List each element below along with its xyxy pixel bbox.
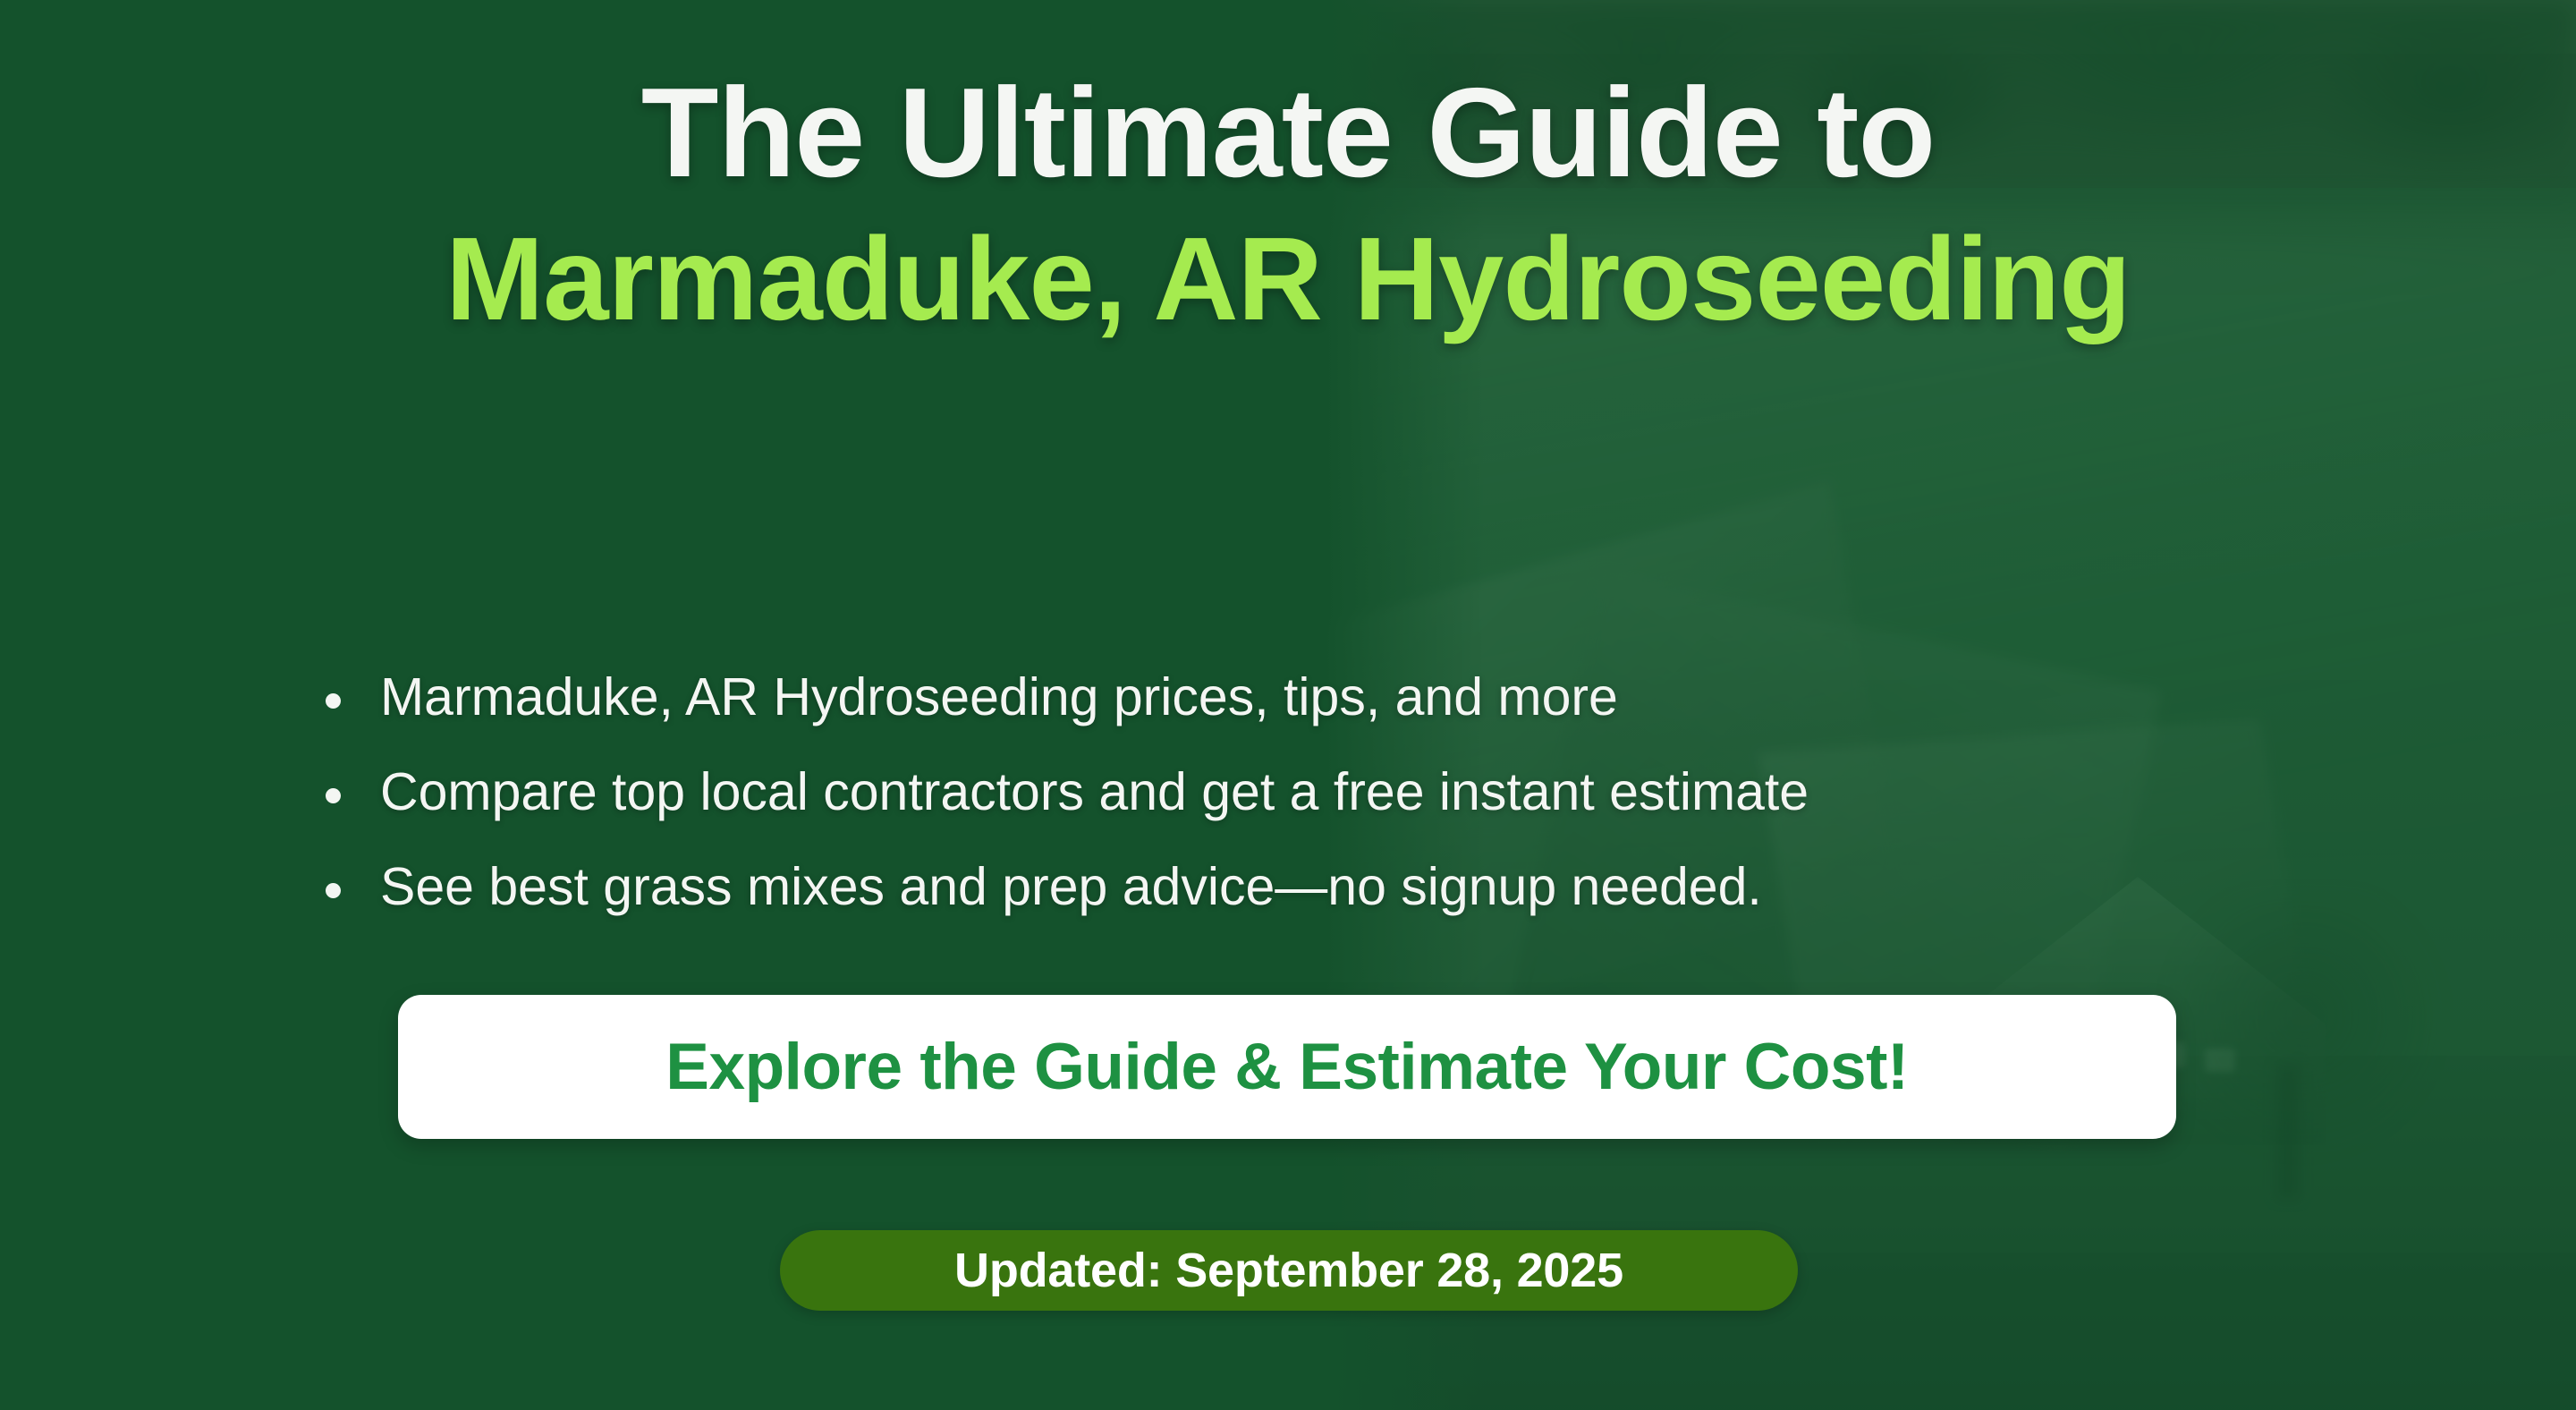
updated-date-badge: Updated: September 28, 2025: [780, 1230, 1798, 1311]
banner-content: The Ultimate Guide to Marmaduke, AR Hydr…: [0, 0, 2576, 1410]
bullet-dot-icon: [326, 788, 341, 803]
cta-button-label: Explore the Guide & Estimate Your Cost!: [665, 1030, 1908, 1104]
list-item: See best grass mixes and prep advice—no …: [315, 861, 2238, 913]
list-item-label: Marmaduke, AR Hydroseeding prices, tips,…: [380, 667, 1618, 726]
list-item: Compare top local contractors and get a …: [315, 766, 2238, 819]
hero-banner: The Ultimate Guide to Marmaduke, AR Hydr…: [0, 0, 2576, 1410]
headline-accent: Marmaduke, AR Hydroseeding: [0, 219, 2576, 340]
list-item-label: See best grass mixes and prep advice—no …: [380, 857, 1762, 916]
feature-bullet-list: Marmaduke, AR Hydroseeding prices, tips,…: [315, 671, 2238, 956]
bullet-dot-icon: [326, 693, 341, 709]
headline-primary: The Ultimate Guide to: [0, 70, 2576, 197]
list-item: Marmaduke, AR Hydroseeding prices, tips,…: [315, 671, 2238, 724]
list-item-label: Compare top local contractors and get a …: [380, 762, 1809, 821]
bullet-dot-icon: [326, 883, 341, 898]
explore-guide-cta-button[interactable]: Explore the Guide & Estimate Your Cost!: [398, 995, 2176, 1139]
updated-date-label: Updated: September 28, 2025: [954, 1243, 1623, 1298]
